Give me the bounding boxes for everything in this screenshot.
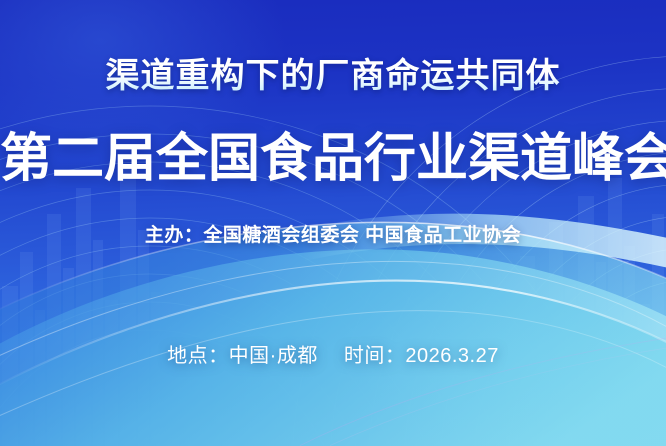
- poster-content: 渠道重构下的厂商命运共同体 第二届全国食品行业渠道峰会 主办：全国糖酒会组委会 …: [0, 0, 666, 446]
- poster-location: 地点：中国·成都: [167, 345, 318, 367]
- poster-footer: 地点：中国·成都时间：2026.3.27: [0, 339, 666, 368]
- poster-title: 第二届全国食品行业渠道峰会: [0, 131, 666, 188]
- poster-organizer: 主办：全国糖酒会组委会 中国食品工业协会: [0, 220, 666, 247]
- poster-subtitle: 渠道重构下的厂商命运共同体: [0, 57, 666, 97]
- event-poster: 渠道重构下的厂商命运共同体 第二届全国食品行业渠道峰会 主办：全国糖酒会组委会 …: [0, 0, 666, 446]
- poster-date: 时间：2026.3.27: [344, 345, 499, 367]
